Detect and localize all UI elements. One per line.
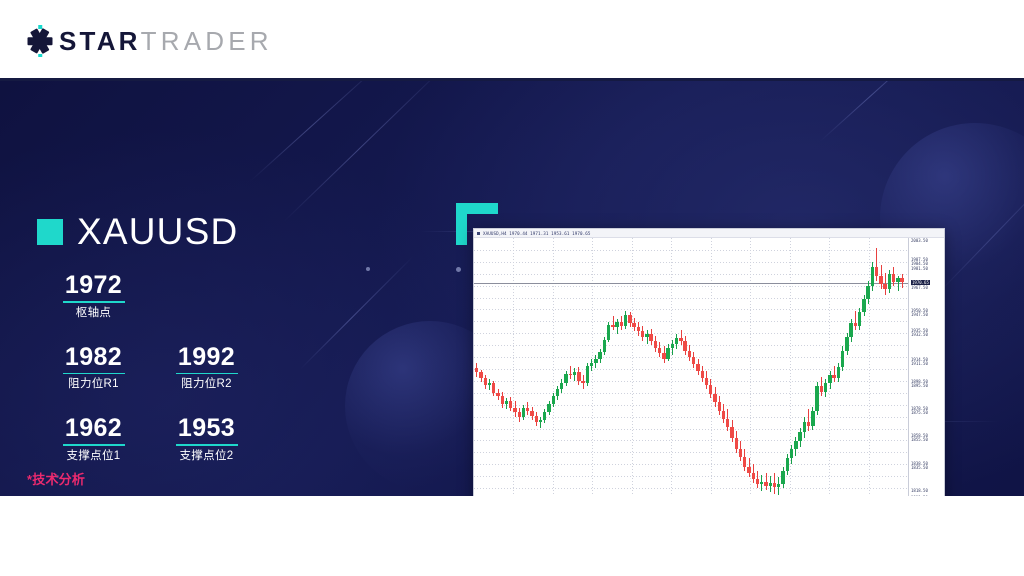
candlestick	[803, 238, 806, 496]
candlestick	[594, 238, 597, 496]
price-tick-label: 1835.50	[911, 465, 928, 470]
candlestick	[841, 238, 844, 496]
candlestick	[539, 238, 542, 496]
candlestick	[875, 238, 878, 496]
star-asterisk-icon	[26, 26, 54, 56]
level-underline	[63, 444, 125, 446]
candlestick	[513, 238, 516, 496]
level-resistance-2: 1992 阻力位R2	[150, 343, 263, 393]
candlestick	[662, 238, 665, 496]
level-support-1: 1962 支撑点位1	[37, 414, 150, 464]
price-tick-label: 1895.50	[911, 383, 928, 388]
decor-dot	[366, 267, 370, 271]
price-tick-label: 1981.50	[911, 266, 928, 271]
decor-dot	[456, 267, 461, 272]
candlestick	[760, 238, 763, 496]
level-underline	[63, 301, 125, 303]
candlestick	[722, 238, 725, 496]
candlestick	[564, 238, 567, 496]
candlestick	[611, 238, 614, 496]
candlestick	[879, 238, 882, 496]
candlestick	[509, 238, 512, 496]
candlestick	[492, 238, 495, 496]
candlestick	[535, 238, 538, 496]
technical-analysis: *技术分析 多头持仓在枢轴点以上，目标位为阻力位R1及阻力位R2。 若低于枢轴点…	[27, 471, 407, 496]
candlestick	[849, 238, 852, 496]
candlestick	[773, 238, 776, 496]
candlestick	[615, 238, 618, 496]
page-header: STAR TRADER	[0, 0, 1024, 78]
level-value: 1962	[37, 414, 150, 443]
candlestick	[854, 238, 857, 496]
candlestick	[858, 238, 861, 496]
candlestick	[777, 238, 780, 496]
candlestick	[888, 238, 891, 496]
price-tick-label: 1947.50	[911, 312, 928, 317]
level-underline	[176, 373, 238, 375]
candlestick	[679, 238, 682, 496]
candlestick	[658, 238, 661, 496]
candlestick	[628, 238, 631, 496]
candlestick	[645, 238, 648, 496]
row-gap	[37, 321, 287, 343]
brand-name-light: TRADER	[141, 26, 273, 56]
candlestick	[675, 238, 678, 496]
candlestick	[866, 238, 869, 496]
candlestick	[807, 238, 810, 496]
candlestick	[692, 238, 695, 496]
candlestick	[556, 238, 559, 496]
candlestick	[501, 238, 504, 496]
candlestick	[569, 238, 572, 496]
level-label: 支撑点位1	[37, 449, 150, 464]
level-spacer	[150, 271, 263, 321]
chart-bullet-icon	[477, 232, 480, 235]
candlestick	[666, 238, 669, 496]
candlestick	[603, 238, 606, 496]
price-tick-label: 1818.50	[911, 488, 928, 493]
candlestick	[654, 238, 657, 496]
chart-title: XAUUSD,H4 1970.44 1971.31 1953.61 1970.6…	[483, 229, 590, 238]
level-label: 阻力位R1	[37, 377, 150, 392]
candlestick	[709, 238, 712, 496]
candlestick	[786, 238, 789, 496]
candlestick	[696, 238, 699, 496]
candlestick	[607, 238, 610, 496]
candlestick	[488, 238, 491, 496]
candlestick	[747, 238, 750, 496]
chart-plot-area	[474, 238, 908, 496]
candlestick	[590, 238, 593, 496]
candlestick	[752, 238, 755, 496]
candlestick	[518, 238, 521, 496]
candlestick	[798, 238, 801, 496]
pivot-row-support: 1962 支撑点位1 1953 支撑点位2	[37, 414, 287, 464]
candlestick	[794, 238, 797, 496]
candlestick	[892, 238, 895, 496]
candlestick	[624, 238, 627, 496]
candlestick	[900, 238, 903, 496]
level-label: 阻力位R2	[150, 377, 263, 392]
level-pivot: 1972 枢轴点	[37, 271, 150, 321]
level-resistance-1: 1982 阻力位R1	[37, 343, 150, 393]
candlestick	[730, 238, 733, 496]
candlestick	[781, 238, 784, 496]
page-title: XAUUSD	[37, 213, 238, 250]
candlestick	[820, 238, 823, 496]
candlestick	[560, 238, 563, 496]
candlestick	[530, 238, 533, 496]
candlestick	[586, 238, 589, 496]
analysis-heading: *技术分析	[27, 471, 407, 489]
candlestick	[479, 238, 482, 496]
pivot-row-pivot: 1972 枢轴点	[37, 271, 287, 321]
candlestick	[883, 238, 886, 496]
candlestick	[573, 238, 576, 496]
level-value: 1992	[150, 343, 263, 372]
chart-price-axis: 2003.501987.501984.501981.501970.651967.…	[908, 238, 945, 496]
candlestick	[620, 238, 623, 496]
pivot-row-resistance: 1982 阻力位R1 1992 阻力位R2	[37, 343, 287, 393]
candlestick	[896, 238, 899, 496]
candlestick	[649, 238, 652, 496]
candlestick	[845, 238, 848, 496]
page-footer: 汇评 | 2023年10月24日	[0, 496, 1024, 576]
candlestick	[790, 238, 793, 496]
pivot-levels: 1972 枢轴点 1982 阻力位R1 1992 阻力位R2 1962	[37, 271, 287, 464]
candlestick	[756, 238, 759, 496]
candlestick	[641, 238, 644, 496]
candlestick	[769, 238, 772, 496]
square-marker-icon	[37, 219, 63, 245]
price-tick-label: 2003.50	[911, 238, 928, 243]
price-tick-label: 1932.50	[911, 332, 928, 337]
price-chart[interactable]: XAUUSD,H4 1970.44 1971.31 1953.61 1970.6…	[473, 228, 945, 496]
price-tick-label: 1855.50	[911, 437, 928, 442]
chart-title-bar: XAUUSD,H4 1970.44 1971.31 1953.61 1970.6…	[474, 229, 945, 238]
price-tick-label: 1967.50	[911, 285, 928, 290]
level-underline	[176, 444, 238, 446]
candlestick	[683, 238, 686, 496]
candlestick	[862, 238, 865, 496]
candlestick	[637, 238, 640, 496]
brand-name-bold: STAR	[59, 26, 141, 56]
candlestick	[815, 238, 818, 496]
candlestick	[871, 238, 874, 496]
candlestick	[484, 238, 487, 496]
candlestick	[726, 238, 729, 496]
candlestick	[547, 238, 550, 496]
candlestick	[522, 238, 525, 496]
level-value: 1982	[37, 343, 150, 372]
level-label: 枢轴点	[37, 306, 150, 321]
candlestick	[811, 238, 814, 496]
price-tick-label: 1911.50	[911, 361, 928, 366]
candlestick	[577, 238, 580, 496]
level-support-2: 1953 支撑点位2	[150, 414, 263, 464]
candlestick	[828, 238, 831, 496]
candlestick-series	[474, 238, 908, 496]
level-underline	[63, 373, 125, 375]
candlestick	[718, 238, 721, 496]
candlestick	[671, 238, 674, 496]
candlestick	[824, 238, 827, 496]
candlestick	[701, 238, 704, 496]
candlestick	[705, 238, 708, 496]
candlestick	[552, 238, 555, 496]
hero-panel: XAUUSD 1972 枢轴点 1982 阻力位R1 1992 阻力位R2	[0, 81, 1024, 496]
candlestick	[505, 238, 508, 496]
analysis-heading-text: 技术分析	[32, 472, 85, 487]
candlestick	[496, 238, 499, 496]
level-value: 1953	[150, 414, 263, 443]
brand-logo[interactable]: STAR TRADER	[26, 26, 273, 56]
candlestick	[581, 238, 584, 496]
symbol-name: XAUUSD	[77, 213, 238, 250]
candlestick	[543, 238, 546, 496]
candlestick	[598, 238, 601, 496]
candlestick	[475, 238, 478, 496]
candlestick	[743, 238, 746, 496]
row-gap	[37, 392, 287, 414]
level-label: 支撑点位2	[150, 449, 263, 464]
candlestick	[832, 238, 835, 496]
candlestick	[735, 238, 738, 496]
level-value: 1972	[37, 271, 150, 300]
candlestick	[713, 238, 716, 496]
candlestick	[837, 238, 840, 496]
candlestick	[764, 238, 767, 496]
candlestick	[526, 238, 529, 496]
candlestick	[688, 238, 691, 496]
price-tick-label: 1875.50	[911, 410, 928, 415]
candlestick	[739, 238, 742, 496]
candlestick	[632, 238, 635, 496]
